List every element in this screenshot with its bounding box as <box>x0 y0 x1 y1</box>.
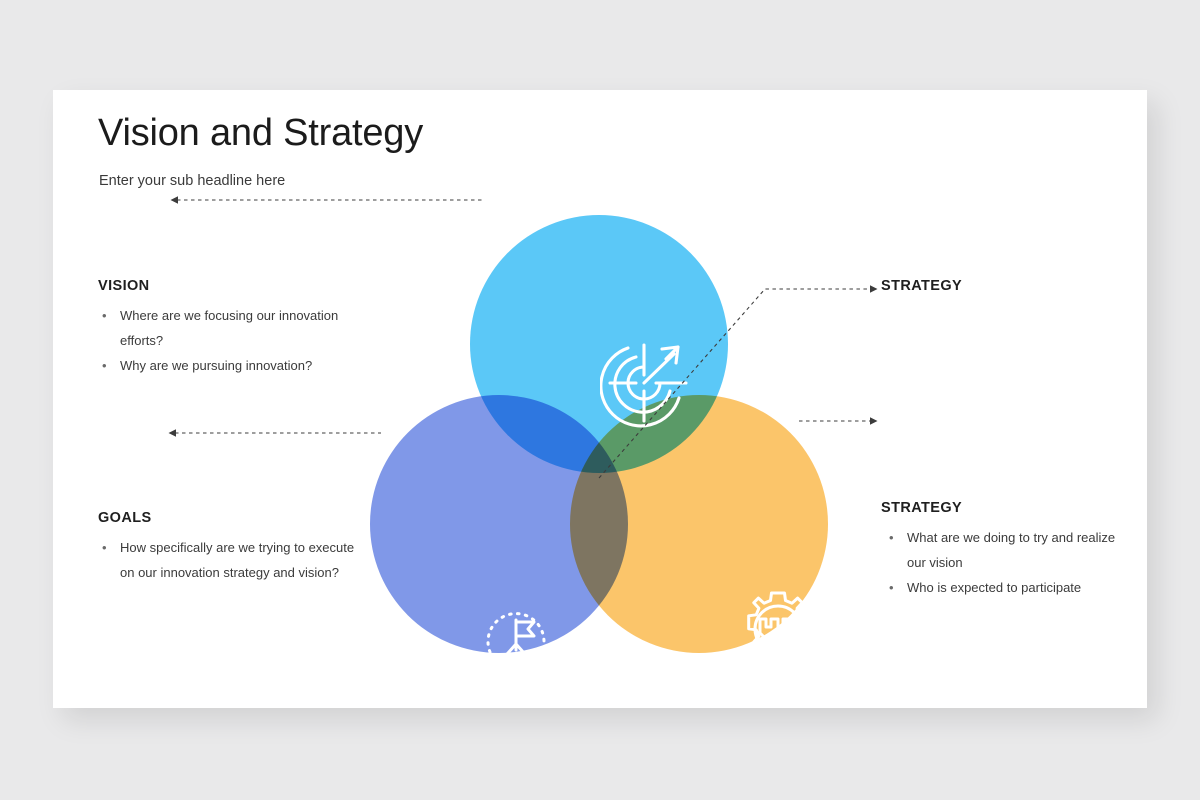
label-block-strategy-bottom: STRATEGY What are we doing to try and re… <box>881 500 1131 600</box>
strategy-top-heading: STRATEGY <box>881 278 1111 294</box>
strategy-bottom-bullet-list: What are we doing to try and realize our… <box>881 525 1131 600</box>
label-block-strategy-top: STRATEGY <box>881 278 1111 303</box>
list-item: Where are we focusing our innovation eff… <box>98 303 348 353</box>
chess-gear-icon <box>728 585 828 696</box>
mountain-flag-icon <box>466 598 566 699</box>
target-icon <box>600 335 696 436</box>
list-item: How specifically are we trying to execut… <box>98 535 358 585</box>
vision-bullet-list: Where are we focusing our innovation eff… <box>98 303 348 378</box>
vision-heading: VISION <box>98 278 348 294</box>
strategy-bottom-heading: STRATEGY <box>881 500 1131 516</box>
list-item: Who is expected to participate <box>881 575 1131 600</box>
label-block-vision: VISION Where are we focusing our innovat… <box>98 278 348 378</box>
slide-card: Vision and Strategy Enter your sub headl… <box>53 90 1147 708</box>
label-block-goals: GOALS How specifically are we trying to … <box>98 510 358 585</box>
goals-bullet-list: How specifically are we trying to execut… <box>98 535 358 585</box>
goals-heading: GOALS <box>98 510 358 526</box>
venn-diagram <box>53 90 1147 708</box>
list-item: What are we doing to try and realize our… <box>881 525 1131 575</box>
list-item: Why are we pursuing innovation? <box>98 353 348 378</box>
